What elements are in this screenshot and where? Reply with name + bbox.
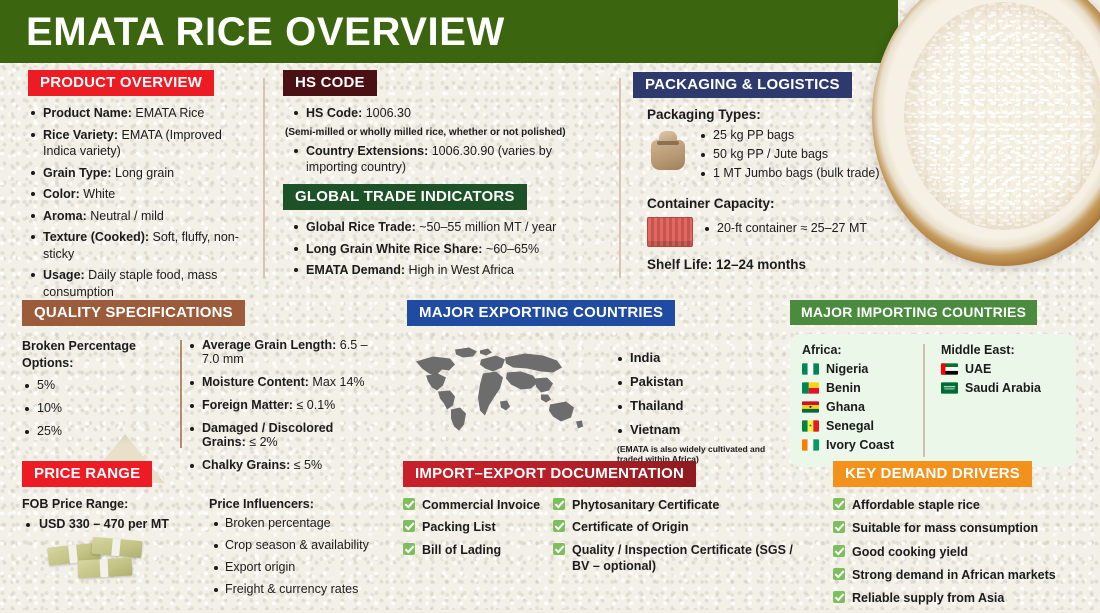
checklist-label: Reliable supply from Asia xyxy=(852,590,1004,606)
item-value: ~60–65% xyxy=(482,242,539,256)
country-name: Nigeria xyxy=(826,362,868,376)
list-item: Broken percentage xyxy=(209,516,382,530)
checklist-item: Suitable for mass consumption xyxy=(833,520,1083,536)
money-stack-icon xyxy=(48,529,144,583)
list-item: Nigeria xyxy=(802,362,925,376)
price-influencers-label: Price Influencers: xyxy=(209,497,382,511)
section-key-demand-drivers: KEY DEMAND DRIVERS Affordable staple ric… xyxy=(833,461,1083,613)
broken-percentage-list: 5% 10% 25% xyxy=(22,378,172,438)
list-item: Ghana xyxy=(802,400,925,414)
checklist-item: Phytosanitary Certificate xyxy=(553,497,813,513)
check-icon xyxy=(403,520,415,532)
checklist-item: Strong demand in African markets xyxy=(833,567,1083,583)
sack-icon xyxy=(647,128,689,172)
packaging-types-list: 25 kg PP bags 50 kg PP / Jute bags 1 MT … xyxy=(699,126,880,185)
africa-column: Africa: Nigeria Benin Ghana Senegal xyxy=(802,343,925,457)
country-name: Saudi Arabia xyxy=(965,381,1041,395)
hs-code-list: HS Code: 1006.30 xyxy=(291,105,601,122)
divider-quality-columns xyxy=(180,340,182,448)
list-item: Freight & currency rates xyxy=(209,582,382,596)
specs-column: Average Grain Length: 6.5 – 7.0 mm Moist… xyxy=(172,338,372,481)
country-name: Ghana xyxy=(826,400,865,414)
list-item: Average Grain Length: 6.5 – 7.0 mm xyxy=(188,338,372,366)
list-item: Aroma: Neutral / mild xyxy=(28,208,240,225)
senegal-flag-icon xyxy=(802,420,819,432)
check-icon xyxy=(833,545,845,557)
fob-column: FOB Price Range: USD 330 – 470 per MT xyxy=(22,497,197,604)
list-item: 10% xyxy=(22,401,172,415)
list-item: Pakistan xyxy=(615,374,782,389)
section-quality-specifications: QUALITY SPECIFICATIONS Broken Percentage… xyxy=(22,300,372,481)
list-item: Vietnam xyxy=(615,422,782,437)
list-item: Long Grain White Rice Share: ~60–65% xyxy=(291,241,601,258)
section-import-export-documentation: IMPORT–EXPORT DOCUMENTATION Commercial I… xyxy=(403,461,813,580)
drivers-title: KEY DEMAND DRIVERS xyxy=(833,461,1032,487)
global-trade-title: GLOBAL TRADE INDICATORS xyxy=(283,184,527,210)
check-icon xyxy=(553,520,565,532)
divider-col2-col3 xyxy=(619,78,621,278)
documentation-title: IMPORT–EXPORT DOCUMENTATION xyxy=(403,461,696,487)
check-icon xyxy=(403,498,415,510)
list-item: 1 MT Jumbo bags (bulk trade) xyxy=(699,166,880,180)
check-icon xyxy=(833,568,845,580)
section-product-overview: PRODUCT OVERVIEW Product Name: EMATA Ric… xyxy=(28,70,240,305)
price-range-title: PRICE RANGE xyxy=(22,461,152,487)
list-item: India xyxy=(615,350,782,365)
checklist-label: Good cooking yield xyxy=(852,544,968,560)
price-influencers-list: Broken percentage Crop season & availabi… xyxy=(209,516,382,596)
container-capacity-row: 20-ft container ≈ 25–27 MT xyxy=(647,215,925,247)
hs-code-list-2: Country Extensions: 1006.30.90 (varies b… xyxy=(291,143,601,176)
specs-list: Average Grain Length: 6.5 – 7.0 mm Moist… xyxy=(188,338,372,472)
check-icon xyxy=(833,591,845,603)
page-header: EMATA RICE OVERVIEW xyxy=(0,0,898,63)
checklist-item: Packing List xyxy=(403,519,553,535)
country-name: Senegal xyxy=(826,419,874,433)
item-value: High in West Africa xyxy=(405,263,514,277)
middle-east-label: Middle East: xyxy=(941,343,1064,357)
country-name: Benin xyxy=(826,381,861,395)
item-label: Color: xyxy=(43,187,80,201)
quality-title: QUALITY SPECIFICATIONS xyxy=(22,300,245,326)
price-body: FOB Price Range: USD 330 – 470 per MT Pr… xyxy=(22,497,382,604)
item-label: Rice Variety: xyxy=(43,128,118,142)
section-global-trade-indicators: GLOBAL TRADE INDICATORS Global Rice Trad… xyxy=(283,184,601,284)
checklist-label: Quality / Inspection Certificate (SGS / … xyxy=(572,542,807,575)
checklist-item: Bill of Lading xyxy=(403,542,553,558)
list-item: Damaged / Discolored Grains: ≤ 2% xyxy=(188,421,372,449)
product-overview-list: Product Name: EMATA Rice Rice Variety: E… xyxy=(28,105,240,300)
nigeria-flag-icon xyxy=(802,363,819,375)
item-label: Texture (Cooked): xyxy=(43,230,149,244)
item-label: Global Rice Trade: xyxy=(306,220,416,234)
world-map-icon xyxy=(407,340,587,440)
item-value: Neutral / mild xyxy=(87,209,164,223)
section-major-exporting-countries: MAJOR EXPORTING COUNTRIES xyxy=(407,300,782,464)
africa-label: Africa: xyxy=(802,343,925,357)
check-icon xyxy=(553,543,565,555)
item-label: Foreign Matter: xyxy=(202,398,293,412)
item-label: Average Grain Length: xyxy=(202,338,336,352)
shelf-life-label: Shelf Life: xyxy=(647,257,712,272)
list-item: Grain Type: Long grain xyxy=(28,165,240,182)
saudi-arabia-flag-icon xyxy=(941,382,958,394)
section-major-importing-countries: MAJOR IMPORTING COUNTRIES Africa: Nigeri… xyxy=(790,300,1076,467)
exporting-countries-list: India Pakistan Thailand Vietnam xyxy=(615,350,782,437)
item-label: Moisture Content: xyxy=(202,375,309,389)
list-item: 20-ft container ≈ 25–27 MT xyxy=(703,221,867,235)
list-item: Ivory Coast xyxy=(802,438,925,452)
item-value: ≤ 0.1% xyxy=(293,398,335,412)
list-item: Moisture Content: Max 14% xyxy=(188,375,372,389)
list-item: EMATA Demand: High in West Africa xyxy=(291,262,601,279)
item-label: Product Name: xyxy=(43,106,132,120)
item-value: ~50–55 million MT / year xyxy=(416,220,556,234)
item-label: Aroma: xyxy=(43,209,87,223)
documentation-column-1: Commercial Invoice Packing List Bill of … xyxy=(403,497,553,580)
importing-card: Africa: Nigeria Benin Ghana Senegal xyxy=(790,334,1076,467)
shipping-container-icon xyxy=(647,217,693,247)
item-label: Long Grain White Rice Share: xyxy=(306,242,482,256)
item-value: Max 14% xyxy=(309,375,365,389)
list-item: Senegal xyxy=(802,419,925,433)
checklist-item: Commercial Invoice xyxy=(403,497,553,513)
documentation-column-2: Phytosanitary Certificate Certificate of… xyxy=(553,497,813,580)
item-value: Long grain xyxy=(112,166,175,180)
quality-columns: Broken Percentage Options: 5% 10% 25% Av… xyxy=(22,338,372,481)
list-item: 25 kg PP bags xyxy=(699,128,880,142)
list-item: Rice Variety: EMATA (Improved Indica var… xyxy=(28,127,240,160)
checklist-label: Strong demand in African markets xyxy=(852,567,1056,583)
section-price-range: PRICE RANGE FOB Price Range: USD 330 – 4… xyxy=(22,461,382,604)
middle-east-column: Middle East: UAE Saudi Arabia xyxy=(925,343,1064,457)
item-value: EMATA Rice xyxy=(132,106,204,120)
importing-title: MAJOR IMPORTING COUNTRIES xyxy=(790,300,1037,325)
checklist-item: Certificate of Origin xyxy=(553,519,813,535)
list-item: 50 kg PP / Jute bags xyxy=(699,147,880,161)
item-label: Country Extensions: xyxy=(306,144,428,158)
country-name: Ivory Coast xyxy=(826,438,894,452)
checklist-item: Quality / Inspection Certificate (SGS / … xyxy=(553,542,813,575)
item-label: Usage: xyxy=(43,268,85,282)
list-item: 5% xyxy=(22,378,172,392)
documentation-columns: Commercial Invoice Packing List Bill of … xyxy=(403,497,813,580)
item-label: Grain Type: xyxy=(43,166,112,180)
divider-col1-col2 xyxy=(263,78,265,278)
check-icon xyxy=(553,498,565,510)
list-item: Country Extensions: 1006.30.90 (varies b… xyxy=(291,143,601,176)
page-title: EMATA RICE OVERVIEW xyxy=(0,12,505,52)
list-item: Thailand xyxy=(615,398,782,413)
checklist-label: Certificate of Origin xyxy=(572,519,689,535)
drivers-list: Affordable staple rice Suitable for mass… xyxy=(833,497,1083,606)
container-capacity-list: 20-ft container ≈ 25–27 MT xyxy=(703,215,867,240)
infographic-canvas: EMATA RICE OVERVIEW PRODUCT OVERVIEW Pro… xyxy=(0,0,1100,610)
exporting-body: India Pakistan Thailand Vietnam (EMATA i… xyxy=(407,340,782,464)
item-label: EMATA Demand: xyxy=(306,263,405,277)
list-item: Saudi Arabia xyxy=(941,381,1064,395)
packaging-title: PACKAGING & LOGISTICS xyxy=(633,72,852,98)
checklist-label: Commercial Invoice xyxy=(422,497,540,513)
checklist-item: Good cooking yield xyxy=(833,544,1083,560)
list-item: 25% xyxy=(22,424,172,438)
list-item: Color: White xyxy=(28,186,240,203)
list-item: Texture (Cooked): Soft, fluffy, non-stic… xyxy=(28,229,240,262)
check-icon xyxy=(833,498,845,510)
item-label: HS Code: xyxy=(306,106,362,120)
global-trade-list: Global Rice Trade: ~50–55 million MT / y… xyxy=(291,219,601,279)
price-influencers-column: Price Influencers: Broken percentage Cro… xyxy=(197,497,382,604)
item-value: ≤ 2% xyxy=(246,435,278,449)
check-icon xyxy=(403,543,415,555)
checklist-label: Affordable staple rice xyxy=(852,497,980,513)
item-value: White xyxy=(80,187,115,201)
list-item: Product Name: EMATA Rice xyxy=(28,105,240,122)
ghana-flag-icon xyxy=(802,401,819,413)
checklist-label: Suitable for mass consumption xyxy=(852,520,1038,536)
list-item: Foreign Matter: ≤ 0.1% xyxy=(188,398,372,412)
checklist-item: Reliable supply from Asia xyxy=(833,590,1083,606)
checklist-label: Packing List xyxy=(422,519,496,535)
list-item: Usage: Daily staple food, mass consumpti… xyxy=(28,267,240,300)
shelf-life: Shelf Life: 12–24 months xyxy=(647,257,925,272)
item-value: 1006.30 xyxy=(362,106,411,120)
divider-importing-columns xyxy=(923,344,925,457)
broken-percentage-column: Broken Percentage Options: 5% 10% 25% xyxy=(22,338,172,481)
section-hs-code: HS CODE HS Code: 1006.30 (Semi-milled or… xyxy=(283,70,601,181)
shelf-life-value: 12–24 months xyxy=(712,257,806,272)
list-item: Benin xyxy=(802,381,925,395)
product-overview-title: PRODUCT OVERVIEW xyxy=(28,70,214,96)
broken-percentage-label: Broken Percentage Options: xyxy=(22,338,172,372)
hs-code-note: (Semi-milled or wholly milled rice, whet… xyxy=(285,127,601,139)
country-name: UAE xyxy=(965,362,991,376)
list-item: Global Rice Trade: ~50–55 million MT / y… xyxy=(291,219,601,236)
uae-flag-icon xyxy=(941,363,958,375)
fob-label: FOB Price Range: xyxy=(22,497,197,511)
list-item: Export origin xyxy=(209,560,382,574)
container-capacity-label: Container Capacity: xyxy=(647,196,925,211)
list-item: HS Code: 1006.30 xyxy=(291,105,601,122)
checklist-label: Bill of Lading xyxy=(422,542,501,558)
check-icon xyxy=(833,521,845,533)
list-item: Crop season & availability xyxy=(209,538,382,552)
hs-code-title: HS CODE xyxy=(283,70,377,96)
benin-flag-icon xyxy=(802,382,819,394)
checklist-item: Affordable staple rice xyxy=(833,497,1083,513)
ivory-coast-flag-icon xyxy=(802,439,819,451)
exporting-countries-list-wrap: India Pakistan Thailand Vietnam (EMATA i… xyxy=(587,340,782,464)
checklist-label: Phytosanitary Certificate xyxy=(572,497,719,513)
list-item: UAE xyxy=(941,362,1064,376)
exporting-title: MAJOR EXPORTING COUNTRIES xyxy=(407,300,675,326)
